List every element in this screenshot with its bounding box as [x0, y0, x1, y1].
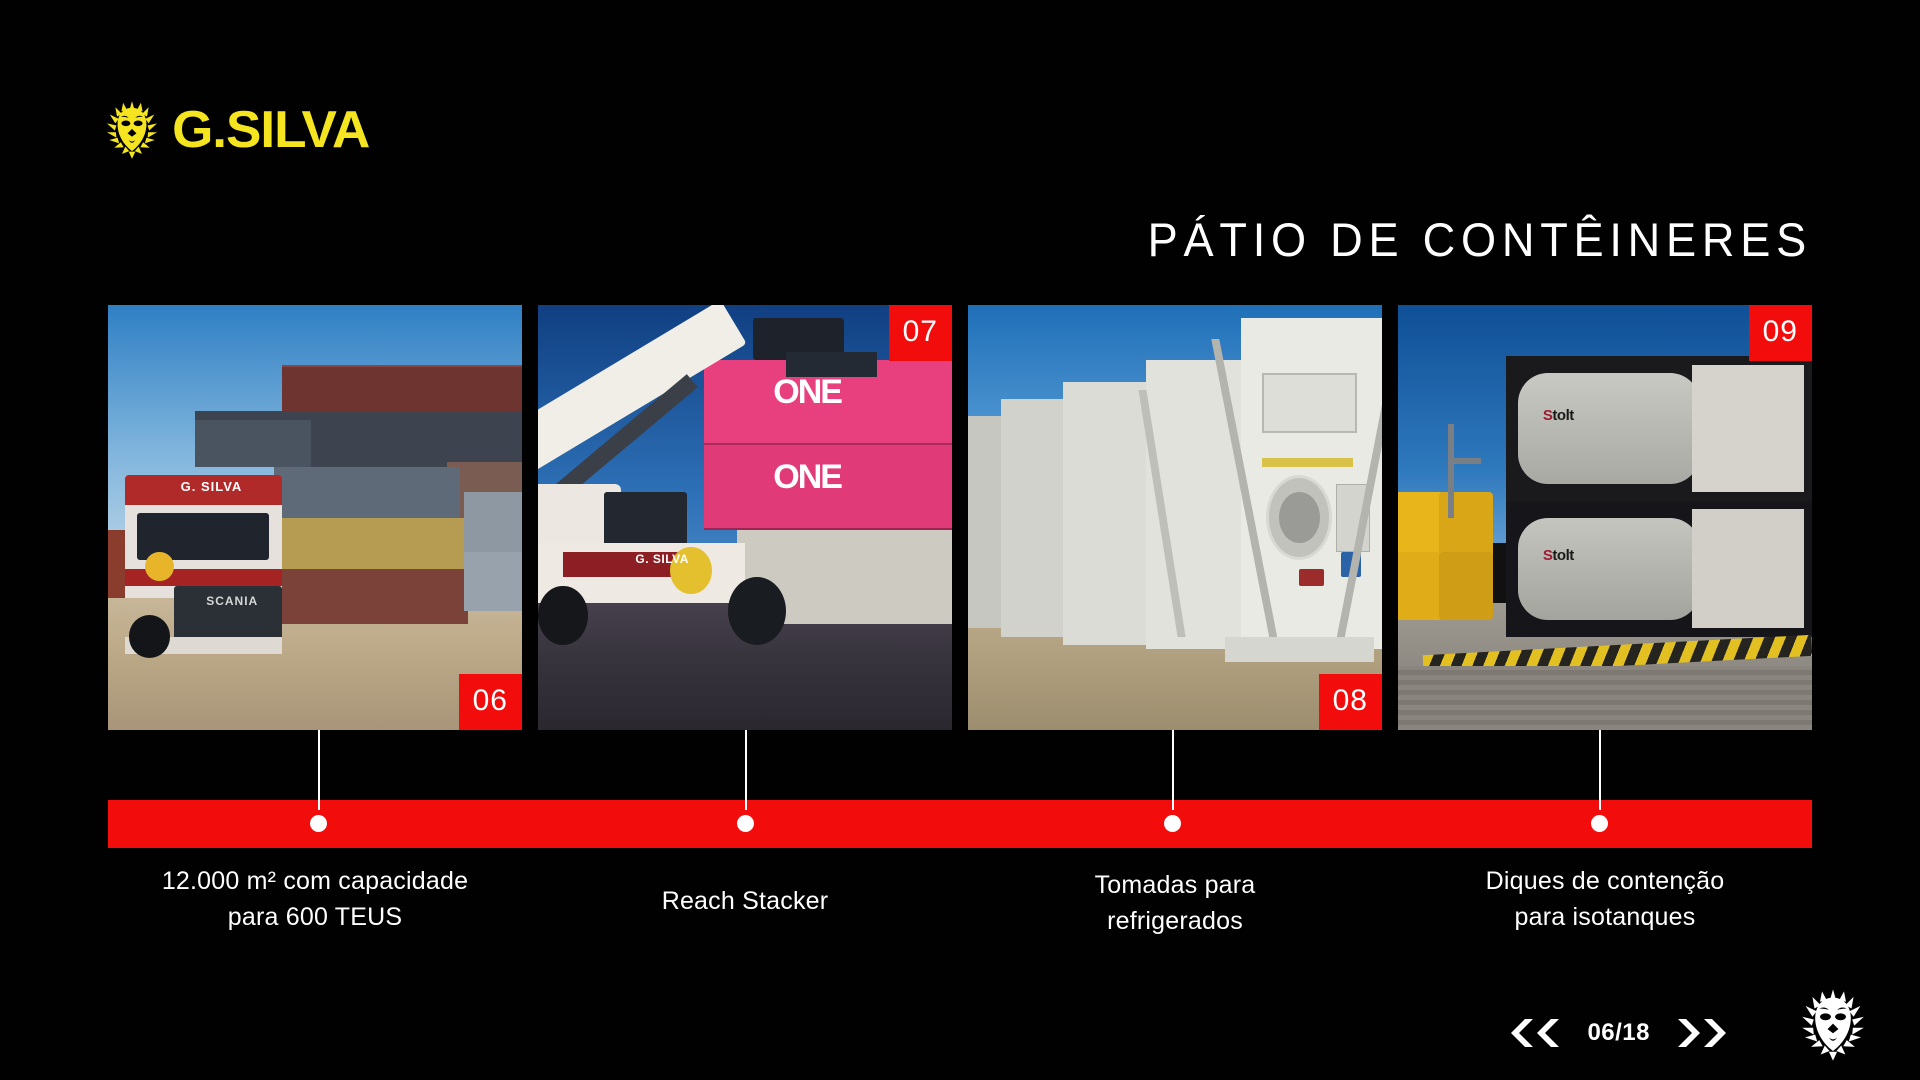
lion-head-watermark-icon	[1796, 988, 1870, 1062]
double-chevron-left-icon[interactable]	[1507, 1018, 1565, 1048]
connector-line-4	[1599, 730, 1601, 810]
caption-3: Tomadas para refrigerados	[968, 864, 1382, 939]
timeline-node-3[interactable]	[1164, 815, 1181, 832]
gallery-badge-2: 07	[889, 305, 952, 361]
gallery-badge-4: 09	[1749, 305, 1812, 361]
double-chevron-right-icon[interactable]	[1672, 1018, 1730, 1048]
gallery-badge-1: 06	[459, 674, 522, 730]
caption-1-line-2: para 600 TEUS	[108, 900, 522, 936]
timeline-node-1[interactable]	[310, 815, 327, 832]
gallery-card-2[interactable]: ONE ONE G. SILVA 07	[538, 305, 952, 730]
timeline-node-2[interactable]	[737, 815, 754, 832]
brand-wordmark: G.SILVA	[172, 104, 369, 156]
photo-reefer-containers	[968, 305, 1382, 730]
gallery-card-3[interactable]: 08	[968, 305, 1382, 730]
timeline-bar	[108, 800, 1812, 848]
caption-row: 12.000 m² com capacidade para 600 TEUS R…	[108, 864, 1812, 939]
gallery-badge-3: 08	[1319, 674, 1382, 730]
connector-line-2	[745, 730, 747, 810]
caption-4-line-1: Diques de contenção	[1398, 864, 1812, 900]
page-indicator: 06/18	[1587, 1019, 1650, 1047]
caption-3-line-2: refrigerados	[968, 904, 1382, 940]
footer-navigation: 06/18	[1507, 1018, 1730, 1048]
caption-1: 12.000 m² com capacidade para 600 TEUS	[108, 864, 522, 939]
caption-1-line-1: 12.000 m² com capacidade	[108, 864, 522, 900]
lion-head-icon	[104, 100, 160, 160]
page-title: PÁTIO DE CONTÊINERES	[1148, 216, 1812, 263]
caption-3-line-1: Tomadas para	[968, 868, 1382, 904]
caption-2: Reach Stacker	[538, 864, 952, 939]
photo-isotank-bund: Stolt Stolt	[1398, 305, 1812, 730]
connector-line-1	[318, 730, 320, 810]
photo-gallery: G. SILVA SCANIA 06 ONE ONE	[108, 305, 1812, 730]
brand-logo: G.SILVA	[104, 100, 367, 160]
photo-reach-stacker: ONE ONE G. SILVA	[538, 305, 952, 730]
timeline-node-4[interactable]	[1591, 815, 1608, 832]
connector-line-3	[1172, 730, 1174, 810]
caption-2-line-1: Reach Stacker	[538, 884, 952, 920]
gallery-card-1[interactable]: G. SILVA SCANIA 06	[108, 305, 522, 730]
caption-4: Diques de contenção para isotanques	[1398, 864, 1812, 939]
caption-4-line-2: para isotanques	[1398, 900, 1812, 936]
gallery-card-4[interactable]: Stolt Stolt 09	[1398, 305, 1812, 730]
photo-truck-container-yard: G. SILVA SCANIA	[108, 305, 522, 730]
